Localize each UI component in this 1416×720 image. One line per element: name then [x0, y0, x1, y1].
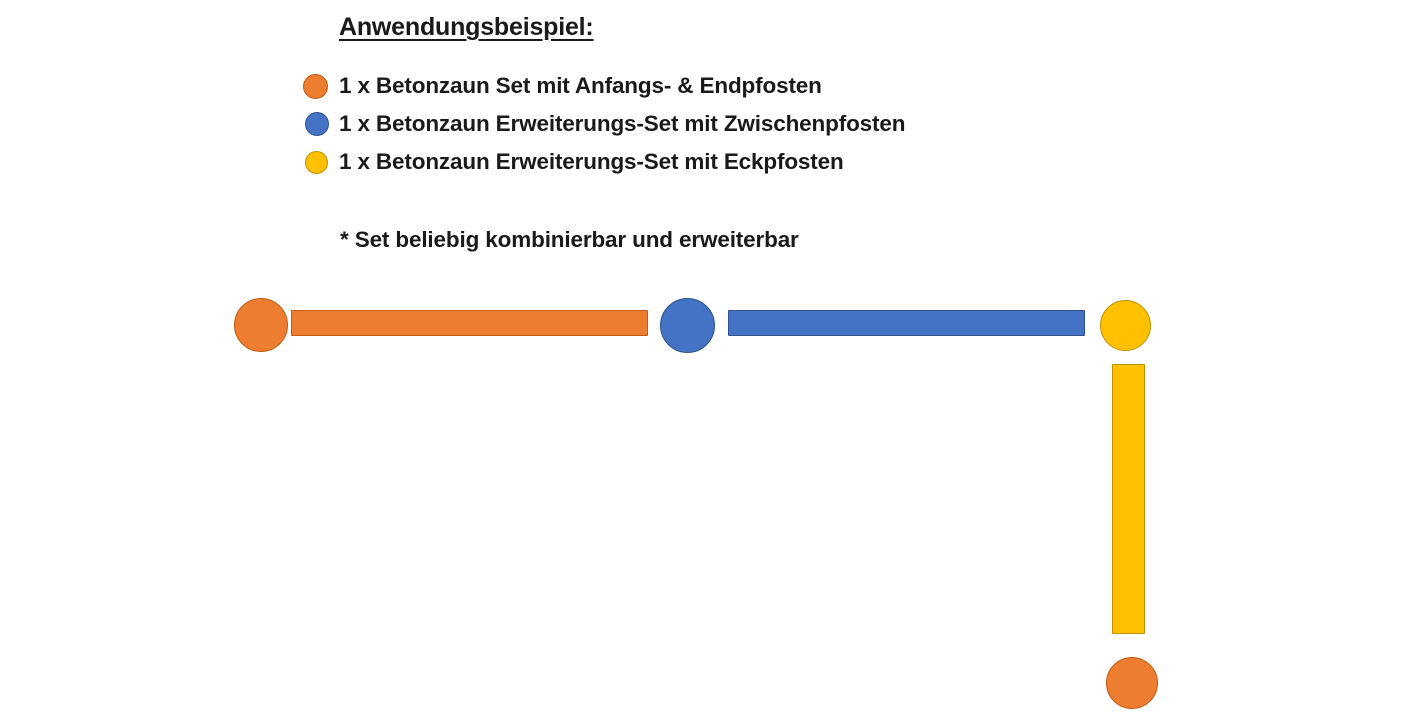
legend-bullet-orange-icon [303, 74, 328, 99]
diagram-canvas: Anwendungsbeispiel: 1 x Betonzaun Set mi… [0, 0, 1416, 720]
legend-item-blue: 1 x Betonzaun Erweiterungs-Set mit Zwisc… [305, 112, 905, 136]
start-post-orange [234, 298, 288, 352]
middle-post-blue [660, 298, 715, 353]
end-post-orange [1106, 657, 1158, 709]
fence-panel-blue-horizontal [728, 310, 1085, 336]
legend-item-label: 1 x Betonzaun Erweiterungs-Set mit Eckpf… [339, 151, 844, 174]
legend-item-orange: 1 x Betonzaun Set mit Anfangs- & Endpfos… [303, 74, 822, 99]
legend-item-label: 1 x Betonzaun Set mit Anfangs- & Endpfos… [339, 75, 822, 98]
legend-item-yellow: 1 x Betonzaun Erweiterungs-Set mit Eckpf… [305, 151, 844, 174]
legend-bullet-yellow-icon [305, 151, 328, 174]
page-title: Anwendungsbeispiel: [339, 13, 594, 42]
corner-post-yellow [1100, 300, 1151, 351]
legend-bullet-blue-icon [305, 112, 329, 136]
fence-panel-orange-horizontal [291, 310, 648, 336]
footnote-text: * Set beliebig kombinierbar und erweiter… [340, 227, 799, 253]
fence-panel-yellow-vertical [1112, 364, 1145, 634]
legend-item-label: 1 x Betonzaun Erweiterungs-Set mit Zwisc… [339, 113, 905, 136]
